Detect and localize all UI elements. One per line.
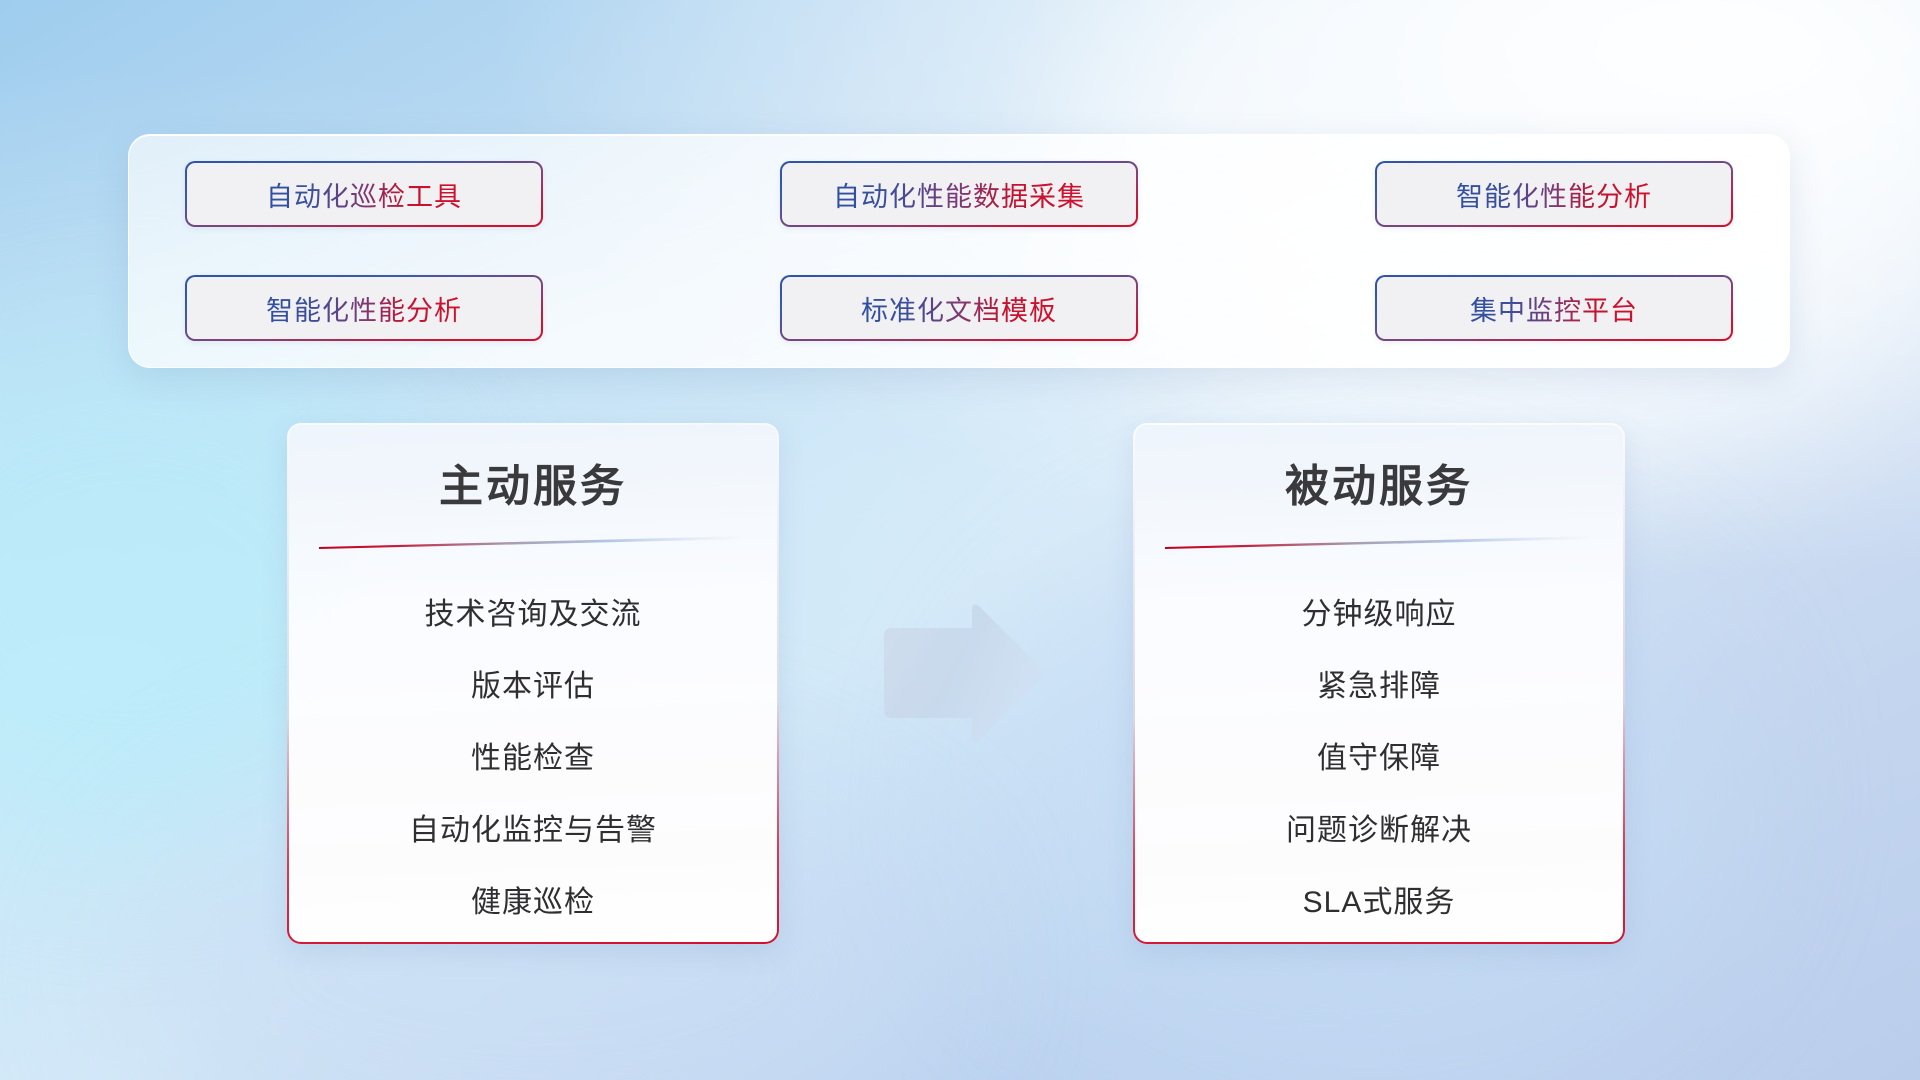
list-item[interactable]: 紧急排障 (1317, 651, 1441, 723)
capability-pill-intelligent-performance-analysis-2[interactable]: 智能化性能分析 (185, 275, 543, 341)
service-card-item-list: 技术咨询及交流 版本评估 性能检查 自动化监控与告警 健康巡检 (289, 579, 777, 939)
list-item[interactable]: 健康巡检 (471, 867, 595, 939)
list-item[interactable]: 分钟级响应 (1302, 579, 1457, 651)
capability-pill-label: 自动化巡检工具 (266, 175, 462, 214)
capability-pill-automated-performance-data-collection[interactable]: 自动化性能数据采集 (780, 161, 1138, 227)
title-underline-rule (319, 535, 747, 549)
list-item[interactable]: 版本评估 (471, 651, 595, 723)
service-card-title: 主动服务 (289, 463, 777, 511)
capability-pill-centralized-monitoring-platform[interactable]: 集中监控平台 (1375, 275, 1733, 341)
capability-pill-intelligent-performance-analysis[interactable]: 智能化性能分析 (1375, 161, 1733, 227)
capability-pill-label: 集中监控平台 (1470, 289, 1638, 328)
capability-row-2: 智能化性能分析 标准化文档模板 集中监控平台 (185, 275, 1733, 341)
list-item[interactable]: SLA式服务 (1303, 867, 1456, 939)
service-card-active: 主动服务 技术咨询及交流 版本评估 性能检查 自动化监控与告警 (287, 423, 779, 944)
arrow-right-icon (876, 600, 1046, 748)
capability-pill-standardized-document-template[interactable]: 标准化文档模板 (780, 275, 1138, 341)
list-item[interactable]: 自动化监控与告警 (409, 795, 657, 867)
capability-pill-label: 智能化性能分析 (266, 289, 462, 328)
service-card-title: 被动服务 (1135, 463, 1623, 511)
capability-pill-label: 自动化性能数据采集 (833, 175, 1085, 214)
service-card-passive: 被动服务 分钟级响应 紧急排障 值守保障 问题诊断解决 (1133, 423, 1625, 944)
capability-pill-automated-inspection-tool[interactable]: 自动化巡检工具 (185, 161, 543, 227)
list-item[interactable]: 性能检查 (471, 723, 595, 795)
capability-pill-label: 智能化性能分析 (1456, 175, 1652, 214)
list-item[interactable]: 值守保障 (1317, 723, 1441, 795)
service-card-item-list: 分钟级响应 紧急排障 值守保障 问题诊断解决 SLA式服务 (1135, 579, 1623, 939)
capability-panel: 自动化巡检工具 自动化性能数据采集 智能化性能分析 智能化性能分析 标准化文档模… (128, 134, 1790, 368)
capability-row-1: 自动化巡检工具 自动化性能数据采集 智能化性能分析 (185, 161, 1733, 227)
diagram-canvas: 自动化巡检工具 自动化性能数据采集 智能化性能分析 智能化性能分析 标准化文档模… (0, 0, 1920, 1080)
list-item[interactable]: 问题诊断解决 (1286, 795, 1472, 867)
capability-pill-label: 标准化文档模板 (861, 289, 1057, 328)
title-underline-rule (1165, 535, 1593, 549)
list-item[interactable]: 技术咨询及交流 (425, 579, 642, 651)
